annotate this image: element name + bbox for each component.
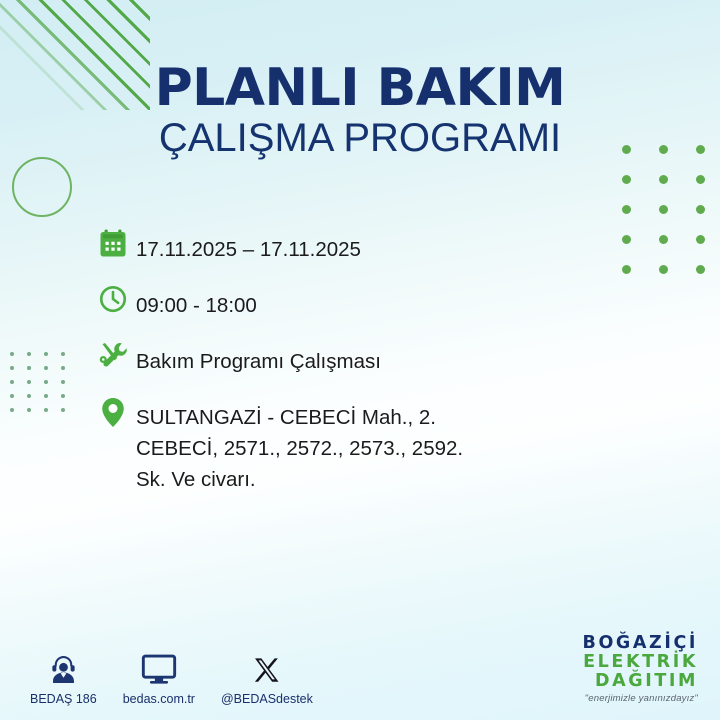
- brand-tagline: "enerjimizle yanınızdayız": [583, 693, 698, 704]
- page-title: PLANLI BAKIM: [0, 62, 720, 115]
- x-twitter-icon: [252, 646, 282, 686]
- maintenance-time-range: 09:00 - 18:00: [136, 284, 257, 321]
- contact-x-label: @BEDASdestek: [221, 692, 313, 706]
- brand-line-2: ELEKTRİK: [583, 653, 698, 672]
- contact-call-center-label: BEDAŞ 186: [30, 692, 97, 706]
- headset-support-icon: [47, 646, 80, 686]
- monitor-icon: [141, 646, 177, 686]
- location-pin-icon: [98, 396, 136, 436]
- calendar-icon: [98, 228, 136, 268]
- footer-contacts: BEDAŞ 186 bedas.com.tr @BEDASdestek: [30, 646, 339, 706]
- detail-row-date: 17.11.2025 – 17.11.2025: [98, 228, 618, 268]
- brand-line-1: BOĞAZİÇİ: [583, 634, 698, 653]
- poster-header: PLANLI BAKIM ÇALIŞMA PROGRAMI: [0, 62, 720, 159]
- dot-grid-right-decoration: [622, 145, 720, 295]
- tools-icon: [98, 340, 136, 380]
- detail-row-time: 09:00 - 18:00: [98, 284, 618, 324]
- contact-website-label: bedas.com.tr: [123, 692, 195, 706]
- contact-call-center[interactable]: BEDAŞ 186: [30, 646, 97, 706]
- planned-maintenance-poster: PLANLI BAKIM ÇALIŞMA PROGRAMI 17: [0, 0, 720, 720]
- maintenance-details: 17.11.2025 – 17.11.2025 09:00 - 18:00: [98, 228, 618, 511]
- contact-x-account[interactable]: @BEDASdestek: [221, 646, 313, 706]
- contact-website[interactable]: bedas.com.tr: [123, 646, 195, 706]
- brand-line-3: DAĞITIM: [583, 672, 698, 691]
- page-subtitle: ÇALIŞMA PROGRAMI: [0, 117, 720, 159]
- maintenance-work-type: Bakım Programı Çalışması: [136, 340, 381, 377]
- circle-outline-decoration: [12, 157, 72, 217]
- detail-row-location: SULTANGAZİ - CEBECİ Mah., 2. CEBECİ, 257…: [98, 396, 618, 495]
- brand-logo: BOĞAZİÇİ ELEKTRİK DAĞITIM "enerjimizle y…: [583, 634, 698, 704]
- dot-grid-left-decoration: [10, 352, 78, 422]
- clock-icon: [98, 284, 136, 324]
- maintenance-date-range: 17.11.2025 – 17.11.2025: [136, 228, 361, 265]
- maintenance-location: SULTANGAZİ - CEBECİ Mah., 2. CEBECİ, 257…: [136, 396, 466, 495]
- detail-row-work-type: Bakım Programı Çalışması: [98, 340, 618, 380]
